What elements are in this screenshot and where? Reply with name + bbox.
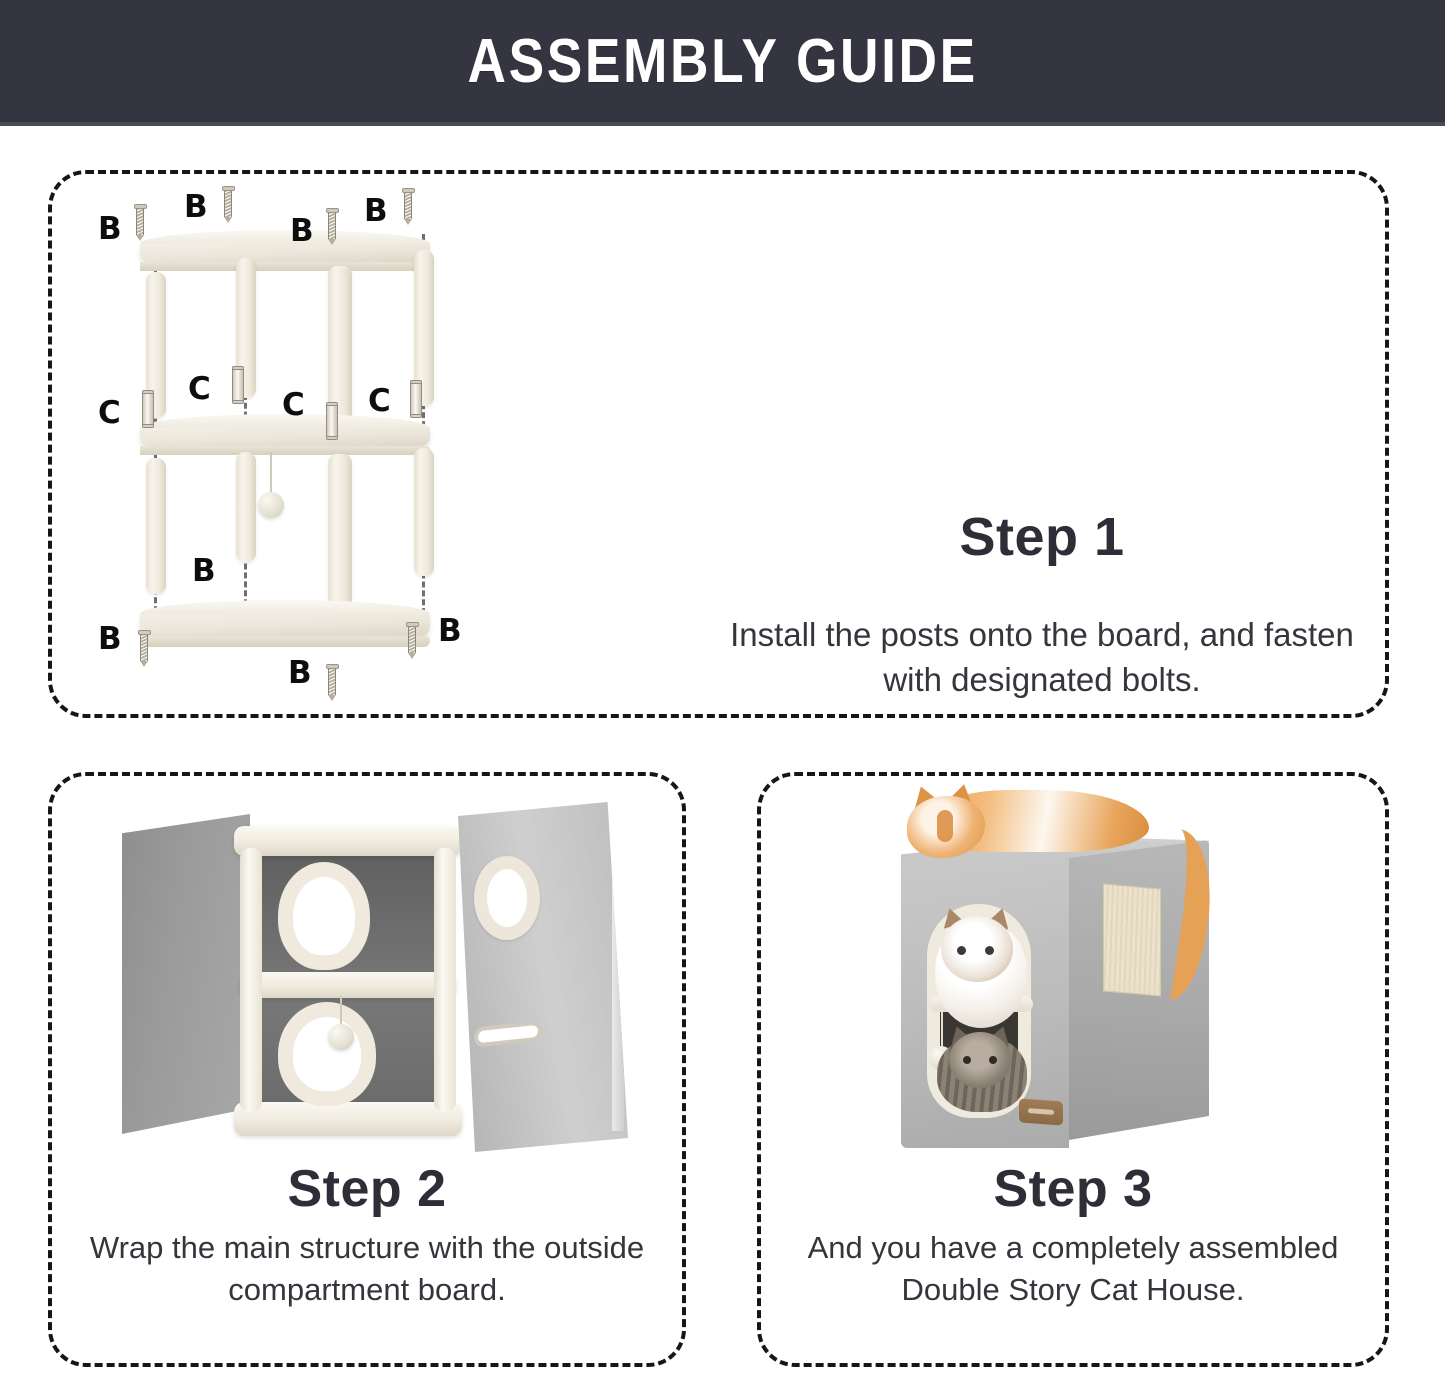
step-2-panel: Step 2 Wrap the main structure with the … <box>48 772 686 1367</box>
post-lower-right-back <box>414 448 434 576</box>
step-1-text-block: Step 1 Install the posts onto the board,… <box>712 509 1372 703</box>
tabby-cat-head <box>949 1032 1011 1088</box>
middle-board <box>140 424 430 446</box>
step-3-body: And you have a completely assembled Doub… <box>761 1227 1385 1311</box>
connector-bolt-icon-mid-front-right <box>326 402 338 440</box>
top-board <box>140 240 430 262</box>
felt-wrap-left-flap <box>122 814 250 1134</box>
tabby-cat-eye-left <box>963 1056 971 1064</box>
post-lower-right-front <box>328 454 352 614</box>
toy-string <box>270 452 272 496</box>
step-2-title: Step 2 <box>52 1162 682 1217</box>
callout-label-b-top-front-right: B <box>290 216 314 247</box>
orange-cat-face-marking <box>937 810 953 842</box>
page-title: ASSEMBLY GUIDE <box>467 26 977 97</box>
callout-label-b-top-left: B <box>98 214 122 245</box>
tabby-cat-eye-right <box>989 1056 997 1064</box>
step-3-illustration <box>871 784 1291 1174</box>
screw-icon-top-back-left <box>222 186 235 223</box>
step-1-panel: B B B B C C <box>48 170 1389 718</box>
frame-bottom-board <box>234 1102 462 1136</box>
assembly-guide-page: ASSEMBLY GUIDE <box>0 0 1445 1375</box>
step-2-text-block: Step 2 Wrap the main structure with the … <box>52 1162 682 1311</box>
ragdoll-cat-head <box>941 916 1013 982</box>
callout-label-b-bottom-left: B <box>98 624 122 655</box>
ragdoll-cat-eye-right <box>985 946 994 955</box>
middle-board-edge <box>140 446 430 455</box>
inner-toy-string <box>340 996 342 1026</box>
side-porthole <box>474 856 540 940</box>
inner-ball-toy <box>328 1024 354 1050</box>
step-3-text-block: Step 3 And you have a completely assembl… <box>761 1162 1385 1311</box>
callout-label-c-mid-front-left: C <box>188 374 211 405</box>
callout-label-c-mid-left: C <box>98 398 121 429</box>
exploded-assembly-diagram: B B B B C C <box>92 186 612 706</box>
frame-top-board <box>234 826 462 856</box>
callout-label-b-lower-mid: B <box>192 556 216 587</box>
callout-label-b-bottom-right: B <box>438 616 462 647</box>
bottom-board-edge <box>140 636 430 647</box>
post-lower-left-back <box>236 452 256 562</box>
step-3-title: Step 3 <box>761 1162 1385 1217</box>
connector-bolt-icon-mid-left <box>142 390 154 428</box>
screw-icon-bottom-center <box>326 664 339 701</box>
callout-label-b-top-back-left: B <box>184 192 208 223</box>
top-board-edge <box>140 262 430 271</box>
step-1-body: Install the posts onto the board, and fa… <box>712 612 1372 703</box>
screw-icon-bottom-right <box>406 622 419 659</box>
screw-icon-top-right <box>402 188 415 225</box>
header-divider <box>0 122 1445 126</box>
step-3-panel: Step 3 And you have a completely assembl… <box>757 772 1389 1367</box>
connector-bolt-icon-mid-right <box>410 380 422 418</box>
lower-opening <box>278 1002 376 1106</box>
leather-brand-tag <box>1019 1098 1063 1125</box>
frame-right-post <box>434 848 456 1112</box>
frame-middle-board <box>240 972 456 998</box>
step-2-body: Wrap the main structure with the outside… <box>52 1227 682 1311</box>
upper-opening <box>278 862 370 970</box>
screw-icon-top-front-right <box>326 208 339 245</box>
bottom-board <box>140 610 430 636</box>
felt-wrap-right-flap <box>458 802 628 1152</box>
callout-label-b-top-right: B <box>364 196 388 227</box>
callout-label-b-bottom-center: B <box>288 658 312 689</box>
house-toy-string <box>941 1010 943 1050</box>
connector-bolt-icon-mid-front-left <box>232 366 244 404</box>
step-1-title: Step 1 <box>712 509 1372 566</box>
page-header: ASSEMBLY GUIDE <box>0 0 1445 122</box>
plush-frame <box>234 826 462 1136</box>
hanging-ball-toy <box>258 492 284 518</box>
post-lower-left-front <box>146 458 166 594</box>
screw-icon-bottom-left <box>138 630 151 667</box>
frame-left-post <box>240 848 262 1112</box>
callout-label-c-mid-front-right: C <box>282 390 305 421</box>
callout-label-c-mid-right: C <box>368 386 391 417</box>
screw-icon-top-left <box>134 204 147 241</box>
ragdoll-cat-eye-left <box>957 946 966 955</box>
step-2-illustration <box>122 796 622 1166</box>
